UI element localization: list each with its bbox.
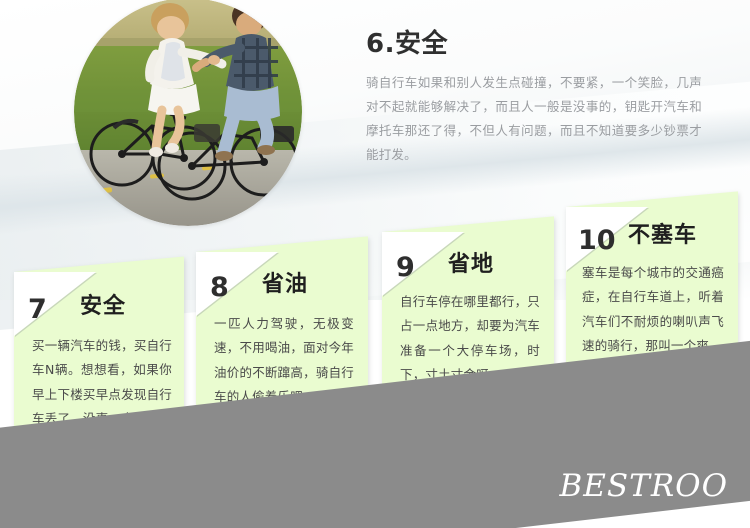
benefit-card-title: 省地 [448, 254, 494, 276]
benefit-card-body: 塞车是每个城市的交通癌症，在自行车道上，听着汽车们不耐烦的喇叭声飞速的骑行，那叫… [582, 261, 724, 359]
benefit-card-title: 安全 [80, 296, 126, 318]
brand-wordmark: BESTROO [560, 471, 729, 502]
infographic-page: 6.安全 骑自行车如果和别人发生点碰撞，不要紧，一个笑脸，几声对不起就能够解决了… [0, 0, 750, 528]
benefit-card-number: 9 [396, 254, 415, 281]
benefit-card-title: 不塞车 [628, 225, 697, 247]
benefit-card-number: 10 [578, 227, 616, 254]
benefit-card-title: 省油 [262, 274, 308, 296]
benefit-card-number: 8 [210, 274, 229, 301]
benefit-card-number: 7 [28, 296, 47, 323]
